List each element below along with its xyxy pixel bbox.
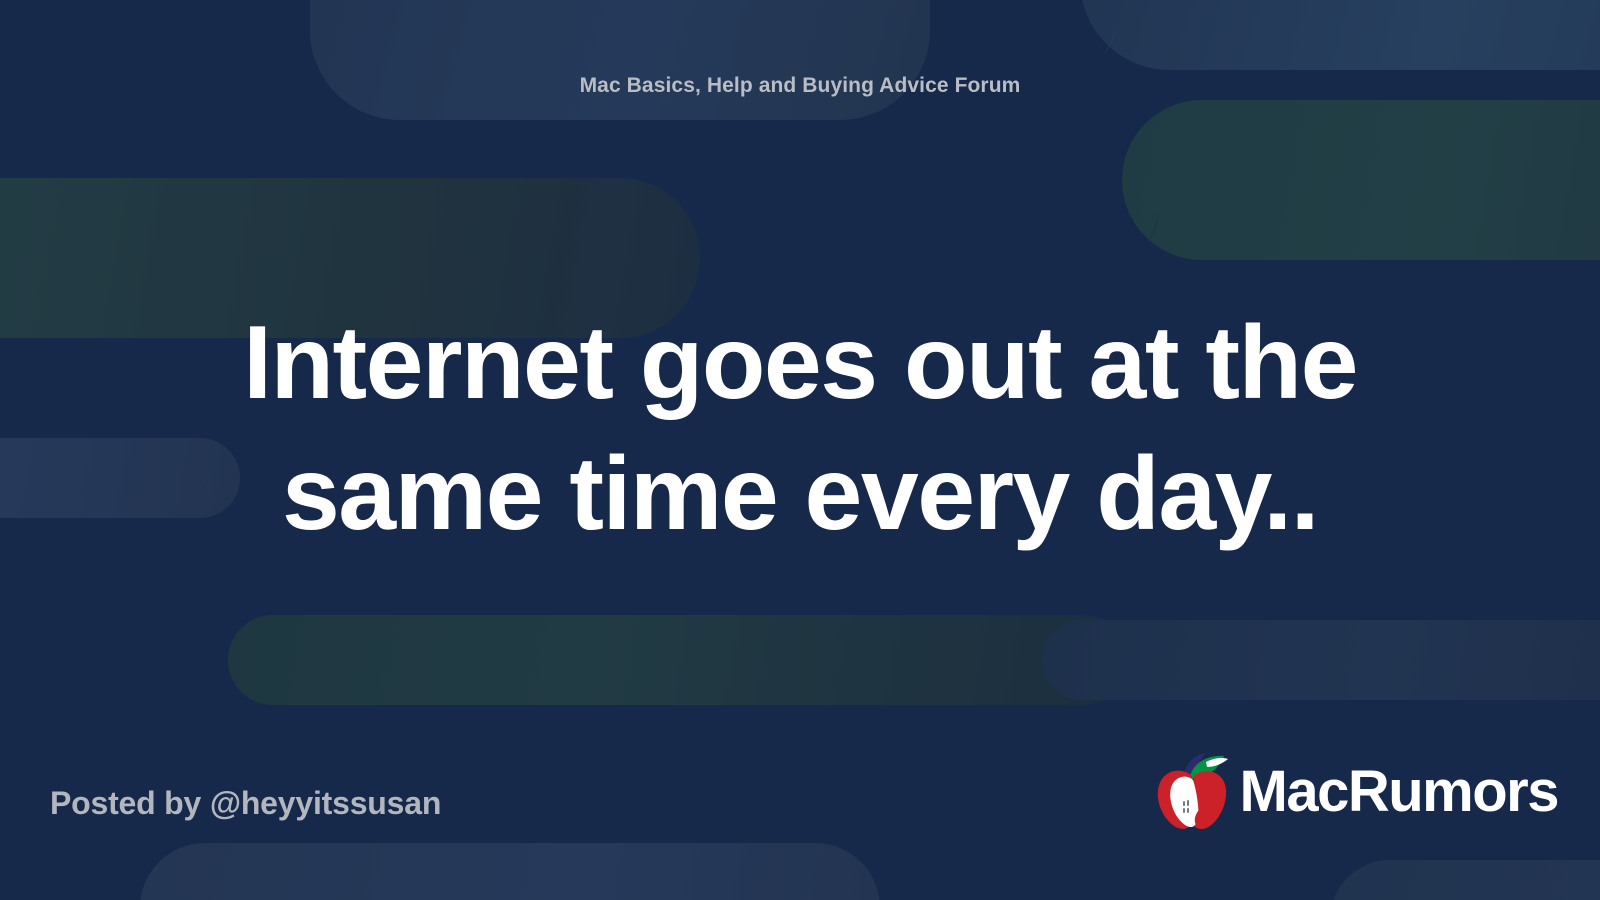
macrumors-share-card: Mac Basics, Help and Buying Advice Forum…	[0, 0, 1600, 900]
thread-title: Internet goes out at the same time every…	[200, 298, 1400, 560]
macrumors-brand-lockup: MacRumors	[1154, 752, 1558, 832]
posted-by-label: Posted by @heyyitssusan	[50, 785, 441, 822]
macrumors-apple-logo-icon	[1154, 752, 1232, 832]
card-content: Mac Basics, Help and Buying Advice Forum…	[0, 0, 1600, 900]
macrumors-wordmark: MacRumors	[1240, 763, 1558, 821]
forum-name-label: Mac Basics, Help and Buying Advice Forum	[0, 74, 1600, 98]
